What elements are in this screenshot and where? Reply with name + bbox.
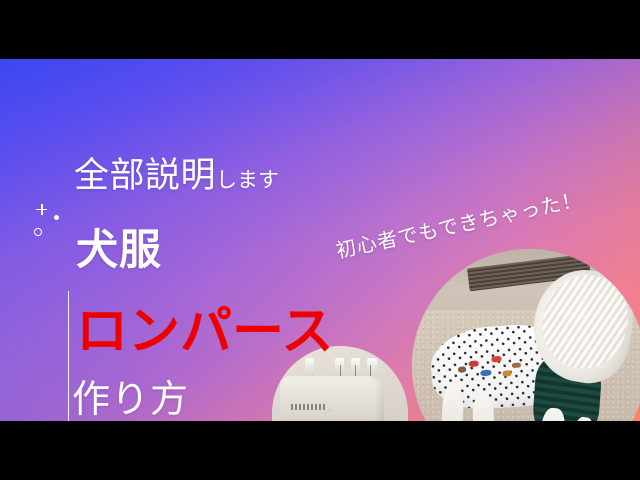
dot-icon (54, 215, 59, 220)
letterbox-bar-top (0, 0, 640, 59)
ring-icon (34, 228, 42, 236)
plus-icon (36, 204, 47, 215)
title-rompers: ロンパース (76, 289, 333, 364)
photo-dog-in-romper (412, 249, 640, 421)
headline-suffix-text: します (216, 169, 279, 192)
headline-main-text: 全部説明 (74, 156, 216, 195)
letterbox-bar-bottom (0, 421, 640, 480)
thumbnail-canvas: 全部説明します 犬服 ロンパース 作り方 ルビーロックミシン 初心者でもできちゃ… (0, 0, 640, 480)
title-tsukurikata: 作り方 (72, 368, 189, 421)
subject-inuhuku: 犬服 (76, 216, 162, 277)
vertical-divider (68, 291, 69, 421)
headline-zenbu-setsumei: 全部説明します (74, 147, 279, 198)
gradient-background: 全部説明します 犬服 ロンパース 作り方 ルビーロックミシン 初心者でもできちゃ… (0, 59, 640, 421)
